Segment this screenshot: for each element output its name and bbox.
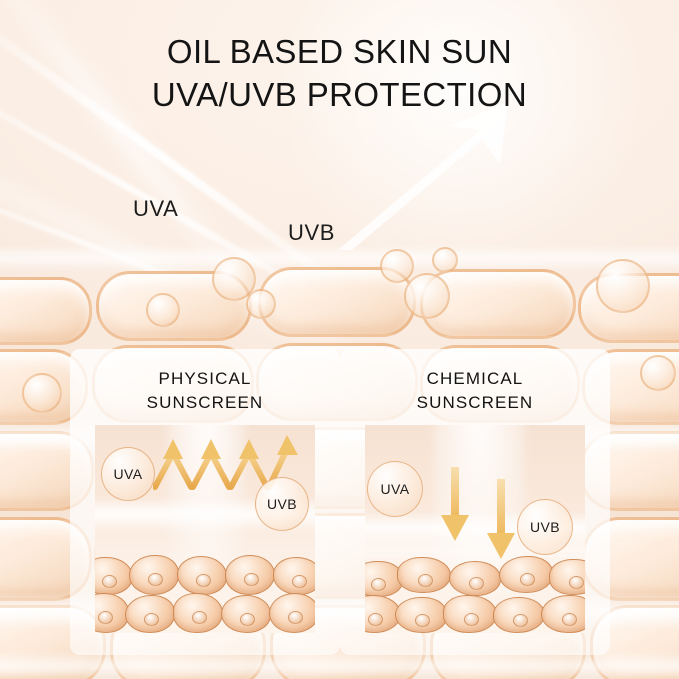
uvb-label: UVB (288, 220, 335, 246)
badge-uvb-chemical: UVB (517, 499, 573, 555)
panel-chemical-title: CHEMICAL SUNSCREEN (340, 367, 610, 415)
badge-uva-physical: UVA (101, 447, 155, 501)
panel-physical-title-line-1: PHYSICAL (159, 369, 252, 388)
page-title-line-1: OIL BASED SKIN SUN (0, 30, 679, 73)
sunscreen-infographic: OIL BASED SKIN SUN UVA/UVB PROTECTION UV… (0, 0, 679, 679)
ray-arrow-icon (330, 100, 520, 250)
badge-uva-chemical: UVA (367, 461, 423, 517)
panel-physical-title: PHYSICAL SUNSCREEN (70, 367, 340, 415)
skin-cell-layer (365, 555, 585, 633)
panel-chemical-sunscreen: CHEMICAL SUNSCREEN UVA UV (340, 349, 610, 655)
uva-label: UVA (133, 196, 178, 222)
page-title: OIL BASED SKIN SUN UVA/UVB PROTECTION (0, 30, 679, 116)
badge-uvb-physical: UVB (255, 477, 309, 531)
skin-cell-layer (95, 555, 315, 633)
panel-chemical-title-line-1: CHEMICAL (427, 369, 524, 388)
chemical-diagram: UVA UVB (365, 425, 585, 633)
physical-diagram: UVA UVB (95, 425, 315, 633)
panel-physical-title-line-2: SUNSCREEN (147, 393, 264, 412)
page-title-line-2: UVA/UVB PROTECTION (0, 73, 679, 116)
panel-chemical-title-line-2: SUNSCREEN (417, 393, 534, 412)
panel-physical-sunscreen: PHYSICAL SUNSCREEN (70, 349, 340, 655)
absorb-arrows-icon (437, 467, 523, 559)
